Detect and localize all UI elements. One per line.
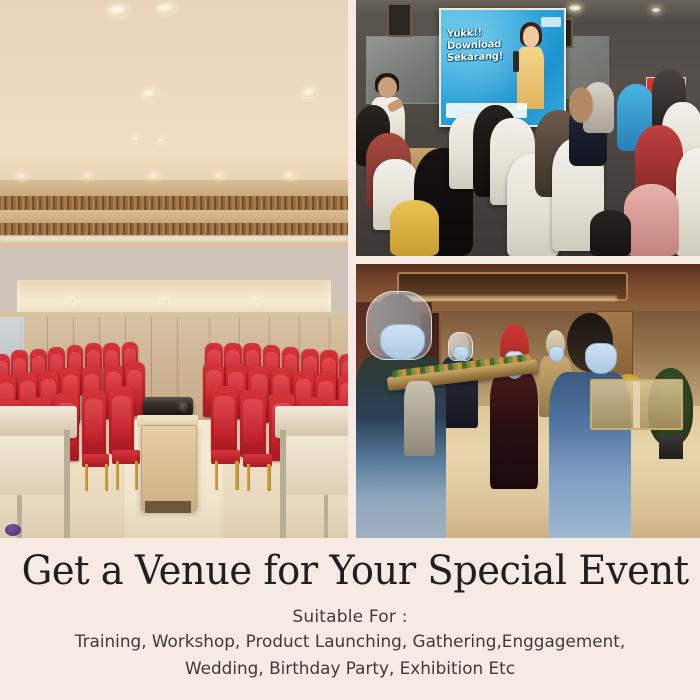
slide-model-phone: [513, 51, 519, 73]
wall-picture-frame: [387, 3, 412, 38]
attendee: [624, 184, 679, 256]
podium-kick-plinth: [145, 501, 190, 513]
gift-ribbon: [633, 381, 640, 428]
ceiling-downlight: [84, 174, 92, 178]
buffet-table-right: [275, 406, 348, 438]
attendee: [590, 210, 631, 256]
attendee-headscarf: [390, 200, 438, 256]
seminar-scene: Yukk!! Download Sekarang!: [356, 0, 700, 256]
face-mask: [585, 343, 617, 374]
promo-poster: Yukk!! Download Sekarang!: [0, 0, 700, 700]
slide-model-body: [517, 47, 544, 108]
buffet-skirt-left: [0, 436, 70, 495]
photo-collage: Yukk!! Download Sekarang!: [0, 0, 700, 538]
projector: [143, 397, 193, 416]
slide-line-3: Sekarang!: [447, 51, 503, 65]
guest-background: [404, 360, 435, 456]
face-mask: [453, 346, 469, 362]
banquet-chair-white: [676, 148, 700, 256]
ceiling-downlight: [157, 139, 165, 143]
ceiling-downlight: [66, 299, 74, 303]
photo-procession: [356, 264, 700, 538]
suitable-for-label: Suitable For :: [0, 607, 700, 627]
ceiling-downlight: [17, 174, 26, 179]
podium-credenza: [141, 425, 197, 510]
buffet-leg: [324, 495, 329, 538]
ceiling-downlight: [652, 8, 660, 12]
slide-headline: Yukk!! Download Sekarang!: [447, 27, 503, 64]
guest-body: [404, 381, 435, 456]
ceiling-ornament-band: [0, 223, 348, 235]
guest-background: [490, 324, 538, 488]
slide-model-figure: [515, 26, 547, 109]
procession-scene: [356, 264, 700, 538]
ceiling-downlight: [160, 299, 168, 303]
ballroom-scene: [0, 0, 348, 538]
ceiling-downlight: [303, 89, 316, 97]
ceiling-downlight: [216, 174, 224, 178]
ceiling-downlight: [251, 299, 259, 303]
ceiling-band: [0, 210, 348, 223]
buffet-leg: [64, 430, 70, 538]
buffet-leg: [280, 430, 286, 538]
ceiling-band: [0, 180, 348, 197]
ceiling-downlight: [150, 174, 158, 178]
suitable-for-line-2: Wedding, Birthday Party, Exhibition Etc: [4, 658, 697, 681]
poster-text-block: Get a Venue for Your Special Event Suita…: [0, 538, 700, 700]
buffet-skirt-right: [282, 436, 348, 495]
slide-model-head: [523, 26, 540, 48]
guest-body: [490, 370, 538, 488]
page-title: Get a Venue for Your Special Event: [14, 538, 686, 593]
plant-pot: [659, 434, 683, 459]
ceremonial-gift-box: [590, 379, 683, 430]
photo-seminar: Yukk!! Download Sekarang!: [356, 0, 700, 256]
suitable-for-line-1: Training, Workshop, Product Launching, G…: [4, 631, 697, 654]
presenter-head: [378, 77, 397, 98]
photo-ballroom: [0, 0, 348, 538]
floor-object-purple: [5, 524, 21, 536]
projector-lens: [178, 401, 191, 412]
ceiling-downlight: [285, 173, 294, 178]
ceiling-ornament-band: [0, 196, 348, 210]
